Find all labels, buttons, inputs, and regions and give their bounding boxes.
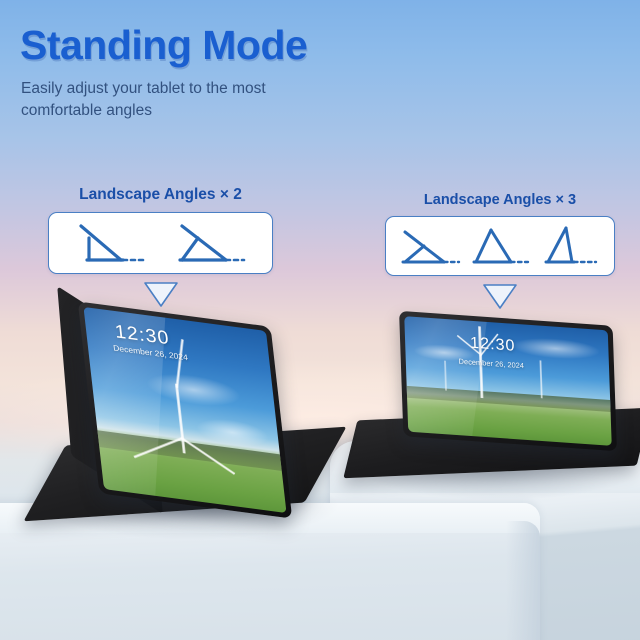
stand-angle-shallow-icon bbox=[174, 220, 248, 266]
pedestal-front-side bbox=[506, 521, 540, 640]
stand-angle-steep-icon bbox=[73, 220, 147, 266]
tablet-right-clock: 12:30 bbox=[470, 335, 516, 356]
device-left: 12:30 December 26, 2024 bbox=[40, 310, 330, 525]
arrow-wrap-left bbox=[143, 281, 179, 308]
angle-panel-landscape-2: Landscape Angles × 2 bbox=[48, 186, 273, 308]
stand-angle-medium-icon bbox=[469, 224, 531, 268]
cloud-shape bbox=[144, 369, 242, 411]
angle-icon-box-right bbox=[385, 216, 615, 276]
treeline bbox=[407, 385, 611, 412]
page-subtitle: Easily adjust your tablet to the most co… bbox=[21, 78, 321, 123]
angle-panel-landscape-3: Landscape Angles × 3 bbox=[385, 192, 615, 310]
angle-panel-label-left: Landscape Angles × 2 bbox=[79, 186, 242, 204]
page-title: Standing Mode bbox=[20, 22, 307, 69]
stand-angle-shallow-icon bbox=[400, 224, 462, 268]
stand-angle-steep-icon bbox=[538, 224, 600, 268]
turbine-pole-far bbox=[540, 360, 543, 398]
angle-icon-box-left bbox=[48, 212, 273, 274]
tablet-right[interactable]: 12:30 December 26, 2024 bbox=[399, 311, 617, 451]
arrow-wrap-right bbox=[482, 283, 518, 310]
triangle-down-arrow-icon bbox=[143, 281, 179, 308]
triangle-down-arrow-icon bbox=[482, 283, 518, 310]
product-banner: 12:30 December 26, 2024 12:30 Decemb bbox=[0, 0, 640, 640]
tablet-left-screen[interactable]: 12:30 December 26, 2024 bbox=[83, 307, 286, 513]
device-right: 12:30 December 26, 2024 bbox=[352, 318, 640, 478]
cloud-shape bbox=[510, 335, 600, 362]
tablet-right-screen[interactable]: 12:30 December 26, 2024 bbox=[404, 316, 611, 446]
turbine-pole-far bbox=[444, 360, 447, 390]
angle-panel-label-right: Landscape Angles × 3 bbox=[424, 192, 576, 208]
tablet-right-date: December 26, 2024 bbox=[458, 357, 524, 371]
tablet-left[interactable]: 12:30 December 26, 2024 bbox=[78, 301, 293, 518]
